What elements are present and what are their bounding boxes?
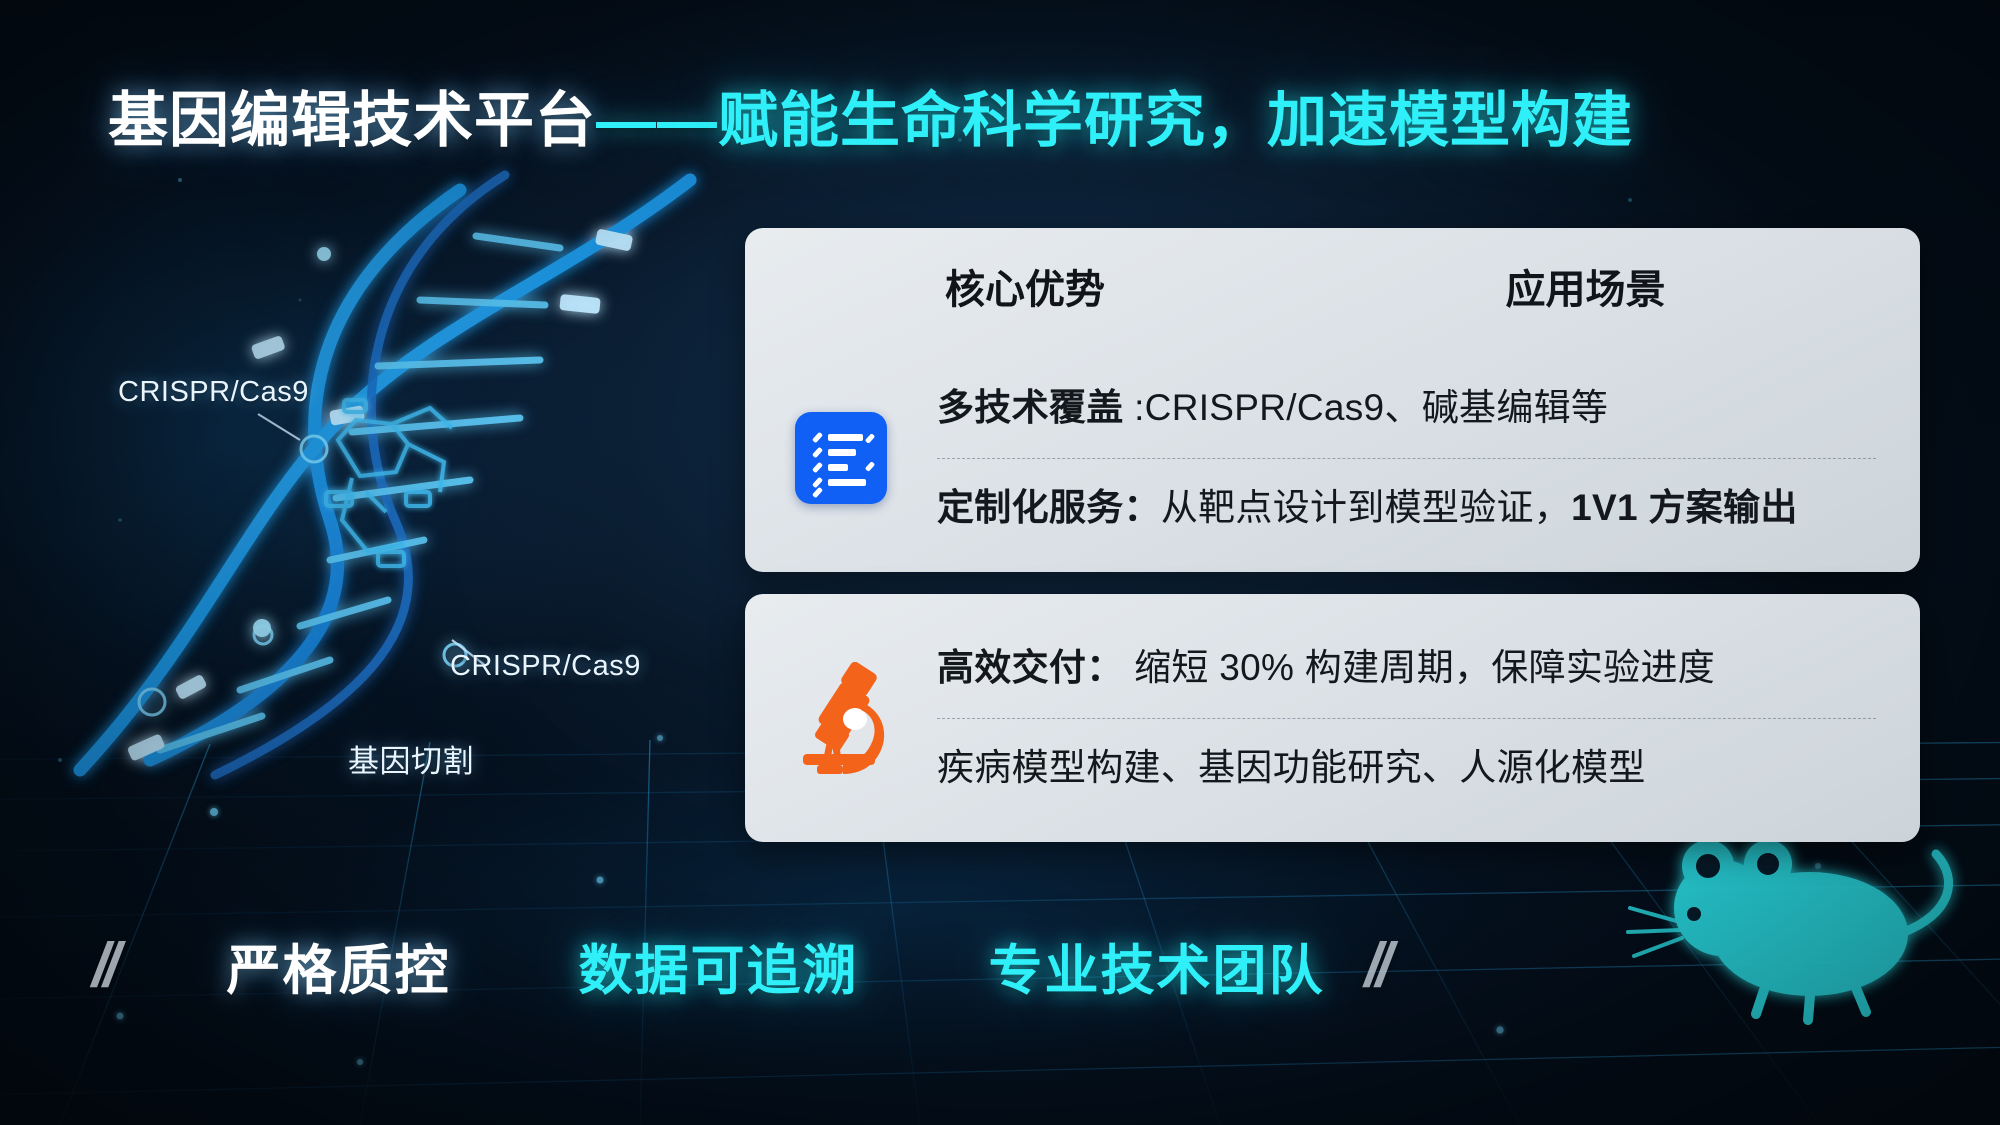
info-panel: 核心优势 应用场景 多技术覆盖 :CRISPR/Cas9、碱基编辑等 bbox=[745, 228, 1920, 842]
slide-root: 基因编辑技术平台——赋能生命科学研究，加速模型构建 CRISPR/Cas9 CR… bbox=[0, 0, 2000, 1125]
dna-helix-illustration bbox=[80, 175, 690, 775]
slash-left-icon: // bbox=[92, 930, 114, 1001]
annotation-leaders bbox=[258, 414, 486, 666]
row-efficient-delivery-label: 高效交付： bbox=[937, 647, 1124, 688]
card-core-advantages: 核心优势 应用场景 多技术覆盖 :CRISPR/Cas9、碱基编辑等 bbox=[745, 228, 1920, 572]
rows-column-scenarios: 高效交付： 缩短 30% 构建周期，保障实验进度 疾病模型构建、基因功能研究、人… bbox=[937, 594, 1876, 842]
row-custom-service: 定制化服务：从靶点设计到模型验证，1V1 方案输出 bbox=[937, 458, 1876, 557]
card-body-advantages: 多技术覆盖 :CRISPR/Cas9、碱基编辑等 定制化服务：从靶点设计到模型验… bbox=[745, 344, 1920, 572]
title-subtitle: 赋能生命科学研究，加速模型构建 bbox=[718, 87, 1633, 154]
card-application-scenarios: 高效交付： 缩短 30% 构建周期，保障实验进度 疾病模型构建、基因功能研究、人… bbox=[745, 594, 1920, 842]
row-custom-service-label: 定制化服务： bbox=[937, 487, 1161, 528]
tag-data-traceable: 数据可追溯 bbox=[578, 926, 858, 1005]
bottom-tag-bar: // 严格质控 数据可追溯 专业技术团队 // bbox=[0, 900, 1792, 1030]
icon-column-advantages bbox=[745, 344, 937, 572]
dna-label-gene-cut: 基因切割 bbox=[348, 736, 474, 781]
left-glow bbox=[0, 40, 640, 820]
tag-strict-quality-control: 严格质控 bbox=[226, 926, 450, 1005]
row-scenario-list-text: 疾病模型构建、基因功能研究、人源化模型 bbox=[937, 747, 1646, 788]
dna-label-crispr-top: CRISPR/Cas9 bbox=[118, 376, 309, 409]
row-multi-tech-label: 多技术覆盖 bbox=[937, 387, 1134, 428]
row-efficient-delivery: 高效交付： 缩短 30% 构建周期，保障实验进度 bbox=[937, 619, 1876, 717]
cas9-schematic bbox=[326, 400, 452, 566]
dna-label-crispr-bottom: CRISPR/Cas9 bbox=[450, 650, 641, 683]
checklist-document-icon bbox=[795, 412, 887, 504]
rows-column-advantages: 多技术覆盖 :CRISPR/Cas9、碱基编辑等 定制化服务：从靶点设计到模型验… bbox=[937, 344, 1876, 572]
header-application-scenarios: 应用场景 bbox=[1305, 257, 1866, 315]
row-multi-tech-text: :CRISPR/Cas9、碱基编辑等 bbox=[1134, 387, 1608, 428]
row-scenario-list: 疾病模型构建、基因功能研究、人源化模型 bbox=[937, 718, 1876, 817]
card-body-scenarios: 高效交付： 缩短 30% 构建周期，保障实验进度 疾病模型构建、基因功能研究、人… bbox=[745, 594, 1920, 842]
slash-right-icon: // bbox=[1364, 930, 1386, 1001]
microscope-icon bbox=[789, 662, 893, 774]
page-title: 基因编辑技术平台——赋能生命科学研究，加速模型构建 bbox=[108, 86, 1633, 155]
title-main: 基因编辑技术平台 bbox=[108, 87, 596, 154]
row-multi-tech: 多技术覆盖 :CRISPR/Cas9、碱基编辑等 bbox=[937, 359, 1876, 457]
row-custom-service-emphasis: 1V1 方案输出 bbox=[1571, 487, 1798, 528]
panel-header-row: 核心优势 应用场景 bbox=[745, 228, 1920, 344]
title-dash: —— bbox=[596, 87, 718, 154]
row-custom-service-text: 从靶点设计到模型验证， bbox=[1161, 487, 1571, 528]
header-core-advantages: 核心优势 bbox=[745, 257, 1305, 315]
icon-column-scenarios bbox=[745, 594, 937, 842]
row-efficient-delivery-text: 缩短 30% 构建周期，保障实验进度 bbox=[1124, 647, 1716, 688]
tag-professional-team: 专业技术团队 bbox=[988, 926, 1324, 1005]
